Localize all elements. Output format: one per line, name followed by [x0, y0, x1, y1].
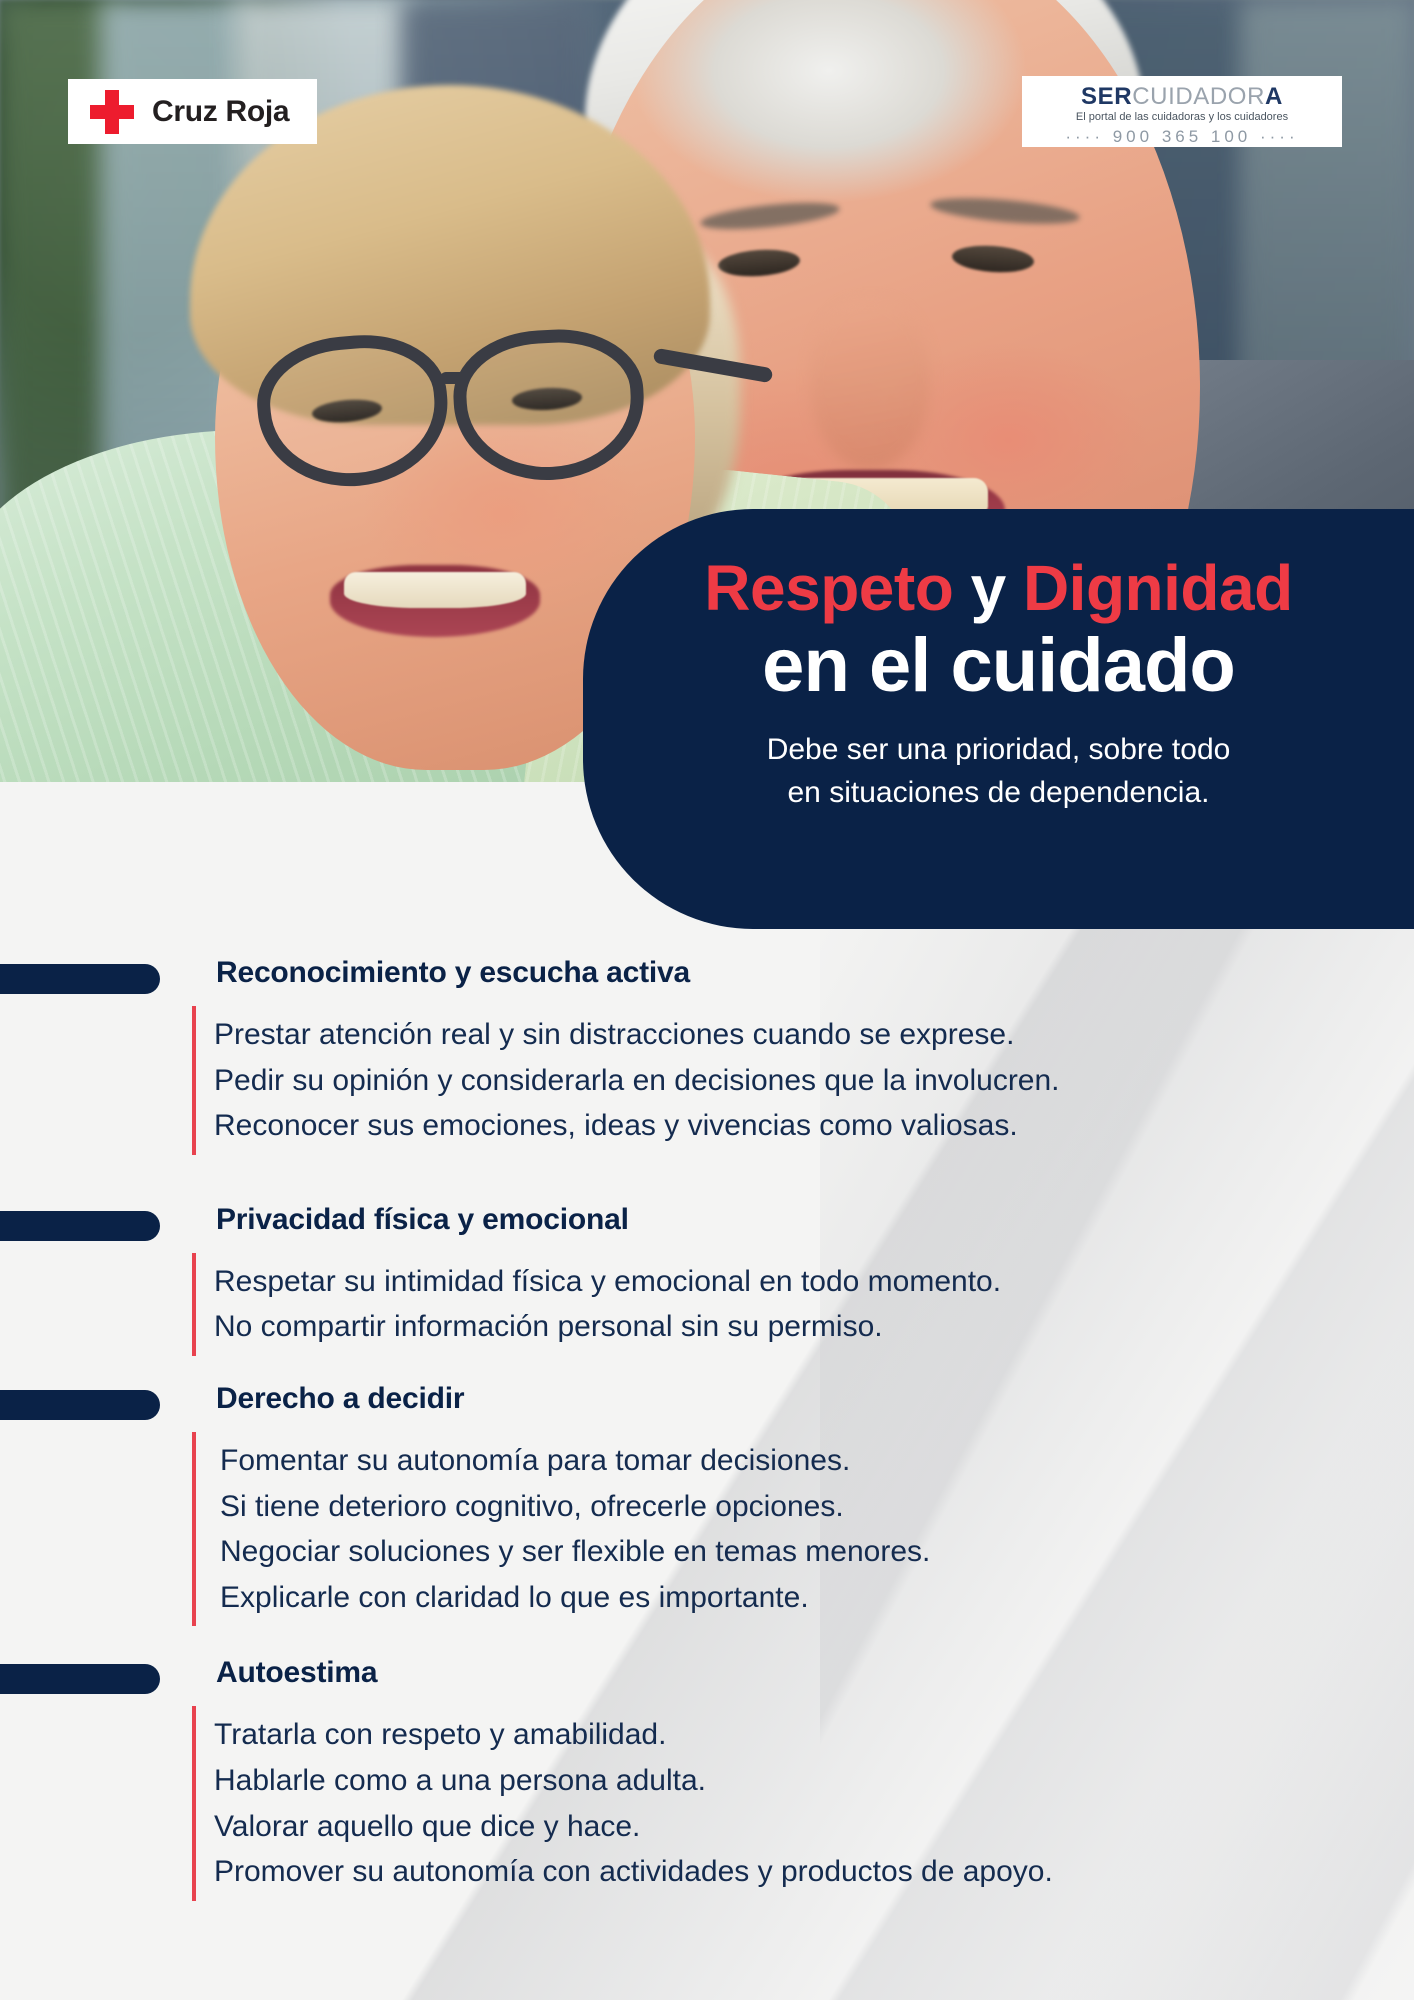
sercuidadora-a: A [1265, 83, 1283, 110]
list-item: Valorar aquello que dice y hace. [214, 1804, 1414, 1850]
hero-title-connector [953, 552, 970, 624]
list-item: Explicarle con claridad lo que es import… [220, 1575, 1414, 1621]
section-title: Derecho a decidir [216, 1382, 464, 1416]
hero-subtitle-line-1: Debe ser una prioridad, sobre todo [627, 729, 1370, 772]
sercuidadora-cuidador: CUIDADOR [1132, 83, 1265, 110]
section-bullets: Fomentar su autonomía para tomar decisio… [192, 1432, 1414, 1626]
section-marker-pill [0, 1664, 160, 1694]
list-item: Reconocer sus emociones, ideas y vivenci… [214, 1103, 1414, 1149]
section-title: Privacidad física y emocional [216, 1203, 629, 1237]
section-header: Derecho a decidir [0, 1378, 1414, 1432]
section-title: Reconocimiento y escucha activa [216, 956, 690, 990]
section-marker-pill [0, 964, 160, 994]
hero-title-panel: Respeto y Dignidad en el cuidado Debe se… [583, 509, 1414, 929]
section-header: Reconocimiento y escucha activa [0, 952, 1414, 1006]
section-title: Autoestima [216, 1656, 377, 1690]
hero-title-space-2 [1006, 552, 1023, 624]
sercuidadora-ser: SER [1081, 83, 1132, 110]
list-item: Si tiene deterioro cognitivo, ofrecerle … [220, 1484, 1414, 1530]
section-bullets: Respetar su intimidad física y emocional… [192, 1253, 1414, 1356]
section-reconocimiento: Reconocimiento y escucha activa Prestar … [0, 952, 1414, 1155]
list-item: No compartir información personal sin su… [214, 1304, 1414, 1350]
cruz-roja-wordmark: Cruz Roja [152, 95, 289, 129]
hero-title-dignidad: Dignidad [1023, 552, 1293, 624]
list-item: Pedir su opinión y considerarla en decis… [214, 1058, 1414, 1104]
list-item: Prestar atención real y sin distraccione… [214, 1012, 1414, 1058]
glasses-bridge [440, 372, 470, 384]
list-item: Negociar soluciones y ser flexible en te… [220, 1529, 1414, 1575]
section-gap [0, 1356, 1414, 1378]
man-nose [810, 300, 930, 470]
section-bullets: Tratarla con respeto y amabilidad. Habla… [192, 1706, 1414, 1900]
section-marker-pill [0, 1211, 160, 1241]
glasses-lens-right [450, 325, 648, 485]
sercuidadora-tagline: El portal de las cuidadoras y los cuidad… [1022, 112, 1342, 123]
glasses-lens-left [252, 328, 454, 494]
hero-title-line-1: Respeto y Dignidad [627, 555, 1370, 623]
list-item: Tratarla con respeto y amabilidad. [214, 1712, 1414, 1758]
section-marker-pill [0, 1390, 160, 1420]
hero-title-respeto: Respeto [704, 552, 953, 624]
hero-subtitle: Debe ser una prioridad, sobre todo en si… [627, 729, 1370, 814]
sercuidadora-wordmark: SERCUIDADORA [1022, 85, 1342, 109]
red-cross-icon [90, 90, 134, 134]
woman-teeth [344, 572, 526, 608]
section-bullets: Prestar atención real y sin distraccione… [192, 1006, 1414, 1155]
section-autoestima: Autoestima Tratarla con respeto y amabil… [0, 1652, 1414, 1900]
content-sections: Reconocimiento y escucha activa Prestar … [0, 952, 1414, 1901]
list-item: Fomentar su autonomía para tomar decisio… [220, 1438, 1414, 1484]
list-item: Hablarle como a una persona adulta. [214, 1758, 1414, 1804]
sercuidadora-phone: ···· 900 365 100 ···· [1022, 128, 1342, 145]
list-item: Respetar su intimidad física y emocional… [214, 1259, 1414, 1305]
section-derecho-a-decidir: Derecho a decidir Fomentar su autonomía … [0, 1378, 1414, 1626]
poster-root: Cruz Roja SERCUIDADORA El portal de las … [0, 0, 1414, 2000]
hero-subtitle-line-2: en situaciones de dependencia. [627, 772, 1370, 815]
woman-glasses [258, 330, 678, 500]
logo-sercuidadora: SERCUIDADORA El portal de las cuidadoras… [1022, 76, 1342, 147]
section-header: Privacidad física y emocional [0, 1199, 1414, 1253]
section-gap [0, 1155, 1414, 1199]
logo-cruz-roja: Cruz Roja [68, 79, 317, 144]
list-item: Promover su autonomía con actividades y … [214, 1849, 1414, 1895]
hero-title-y: y [971, 552, 1006, 624]
section-gap [0, 1626, 1414, 1652]
hero-title-line-2: en el cuidado [627, 625, 1370, 707]
section-header: Autoestima [0, 1652, 1414, 1706]
section-privacidad: Privacidad física y emocional Respetar s… [0, 1199, 1414, 1356]
